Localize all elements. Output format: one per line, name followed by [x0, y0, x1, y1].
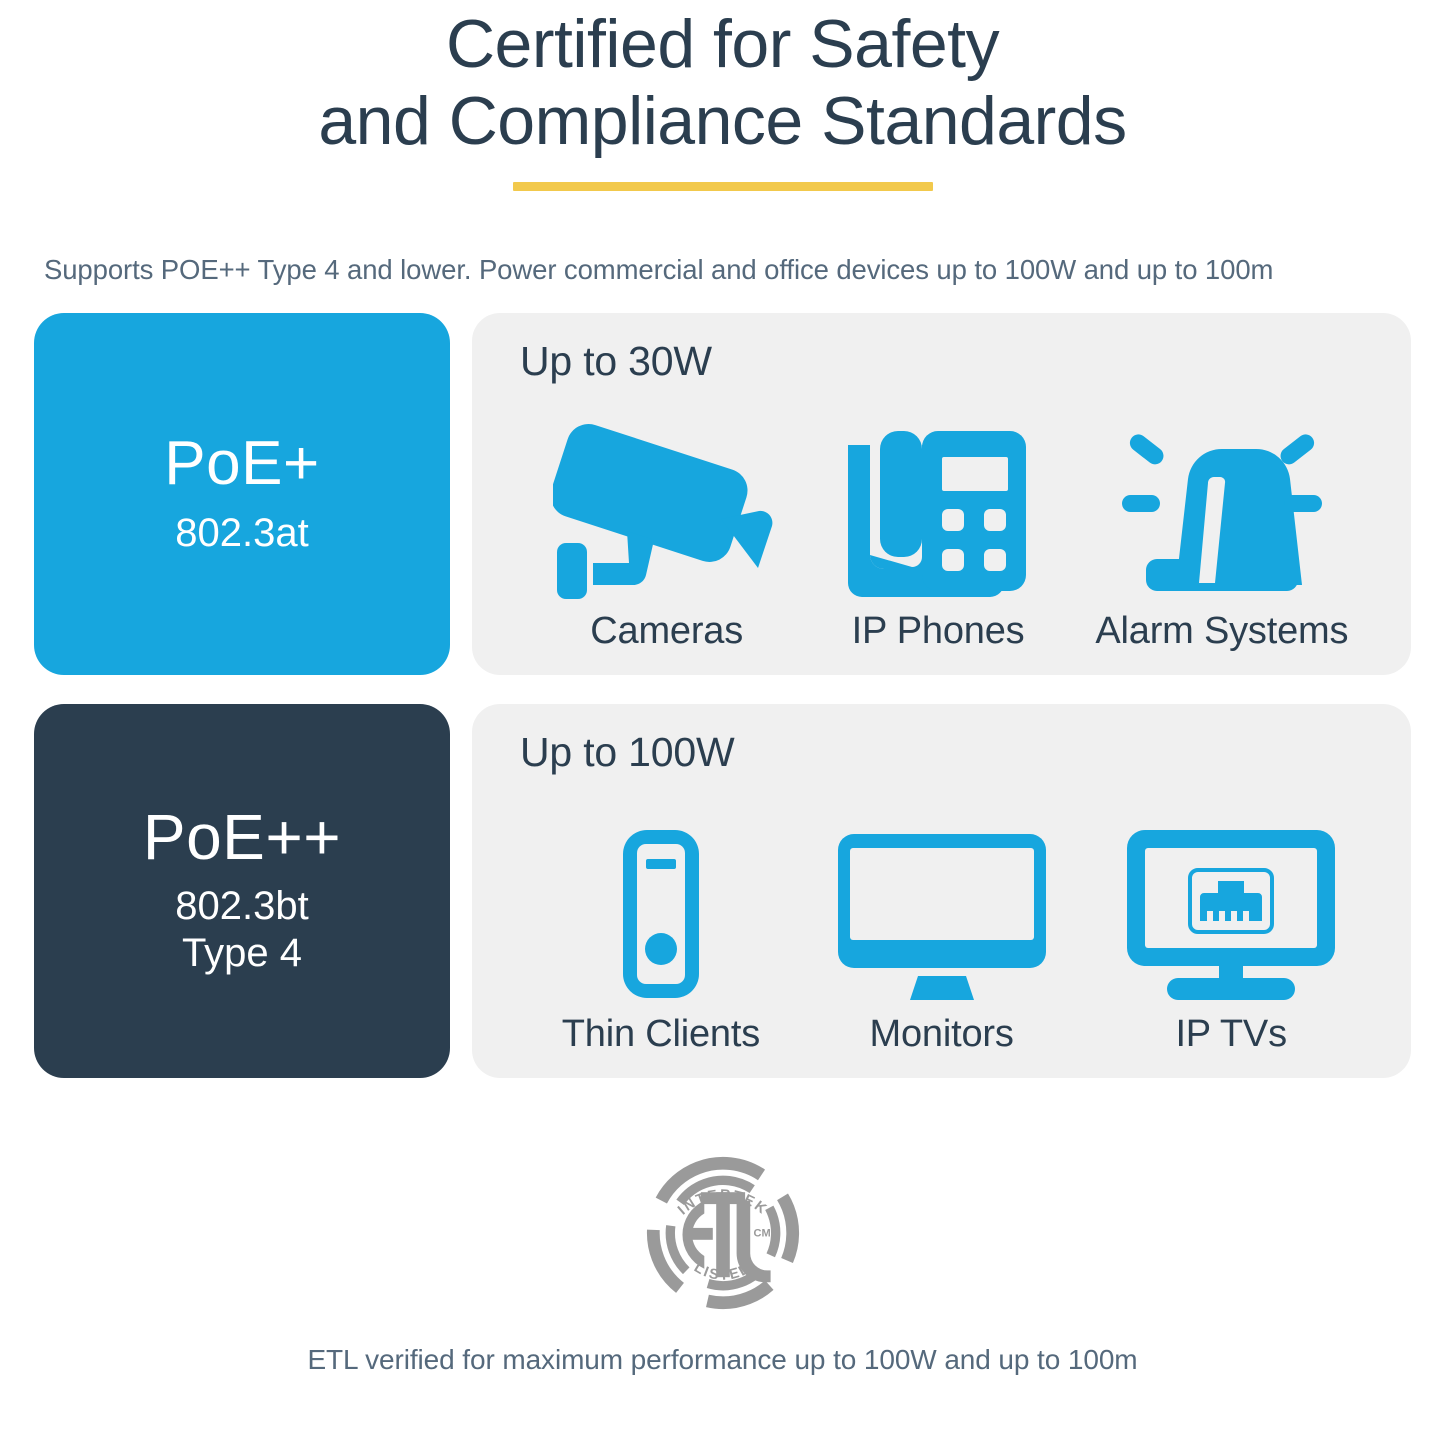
poe-plus-device-panel: Up to 30W Cameras [472, 313, 1411, 675]
poe-plus-badge: PoE+ 802.3at [34, 313, 450, 675]
device-alarm-systems: Alarm Systems [1095, 423, 1348, 653]
ip-phone-icon [838, 423, 1038, 599]
poe-plusplus-device-panel: Up to 100W Thin Clients [472, 704, 1411, 1078]
certification-footer-text: ETL verified for maximum performance up … [0, 1344, 1445, 1376]
device-label-cameras: Cameras [590, 611, 743, 653]
etl-logo-cm-mark: CM [753, 1227, 770, 1239]
poe-plus-power-heading: Up to 30W [520, 339, 1381, 384]
device-label-ip-tvs: IP TVs [1175, 1014, 1286, 1056]
device-ip-phones: IP Phones [838, 423, 1038, 653]
poe-plusplus-badge: PoE++ 802.3bt Type 4 [34, 704, 450, 1078]
page-header: Certified for Safety and Compliance Stan… [0, 0, 1445, 191]
poe-plusplus-badge-type: Type 4 [175, 930, 308, 977]
device-label-alarm-systems: Alarm Systems [1095, 611, 1348, 653]
thin-client-icon [605, 826, 717, 1002]
device-monitors: Monitors [836, 826, 1048, 1056]
poe-plus-row: PoE+ 802.3at Up to 30W [34, 313, 1411, 675]
device-thin-clients: Thin Clients [562, 826, 760, 1056]
poe-comparison-matrix: PoE+ 802.3at Up to 30W [0, 313, 1445, 1078]
poe-plusplus-badge-title: PoE++ [143, 804, 341, 871]
page-title-line-2: and Compliance Standards [0, 83, 1445, 160]
device-label-monitors: Monitors [870, 1014, 1014, 1056]
title-underline-divider [513, 182, 933, 191]
page-title-line-1: Certified for Safety [0, 6, 1445, 83]
poe-plusplus-row: PoE++ 802.3bt Type 4 Up to 100W [34, 704, 1411, 1078]
poe-plusplus-badge-standard: 802.3bt [175, 883, 308, 930]
security-camera-icon [553, 423, 781, 599]
device-ip-tvs: IP TVs [1123, 826, 1339, 1056]
device-label-thin-clients: Thin Clients [562, 1014, 760, 1056]
poe-plus-badge-standard: 802.3at [175, 510, 308, 557]
monitor-icon [836, 826, 1048, 1002]
subtitle-text: Supports POE++ Type 4 and lower. Power c… [0, 254, 1445, 286]
alarm-siren-icon [1104, 423, 1340, 599]
certification-section: INTERTEK LISTED CM [0, 1148, 1445, 1318]
ip-tv-icon [1123, 826, 1339, 1002]
poe-plusplus-power-heading: Up to 100W [520, 730, 1381, 775]
device-cameras: Cameras [553, 423, 781, 653]
etl-intertek-listed-logo: INTERTEK LISTED CM [638, 1148, 808, 1318]
device-label-ip-phones: IP Phones [852, 611, 1025, 653]
poe-plus-badge-title: PoE+ [164, 431, 319, 496]
